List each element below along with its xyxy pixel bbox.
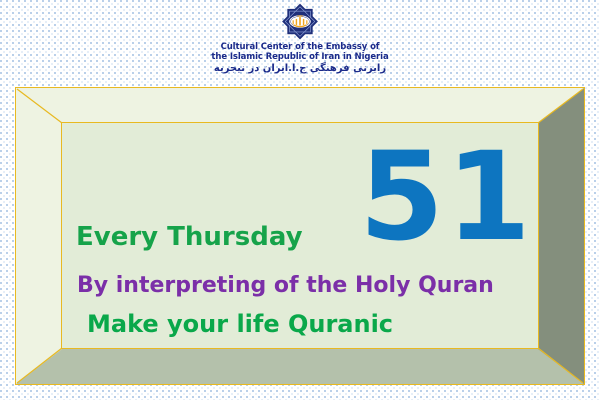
org-name-line-2: the Islamic Republic of Iran in Nigeria [211,53,388,63]
subline-by-interpreting: By interpreting of the Holy Quran [77,273,494,299]
panel-content: 51 Every Thursday By interpreting of the… [62,123,538,348]
subline-make-life-quranic: Make your life Quranic [87,310,393,338]
org-name-persian: رایزنی فرهنگی ج.ا.ایران در نیجریه [214,63,386,75]
poster-canvas: Cultural Center of the Embassy of the Is… [0,0,600,400]
iran-emblem-star-icon [277,3,323,41]
masthead: Cultural Center of the Embassy of the Is… [0,0,600,86]
issue-number: 51 [354,136,538,258]
headline-every-thursday: Every Thursday [76,222,303,252]
